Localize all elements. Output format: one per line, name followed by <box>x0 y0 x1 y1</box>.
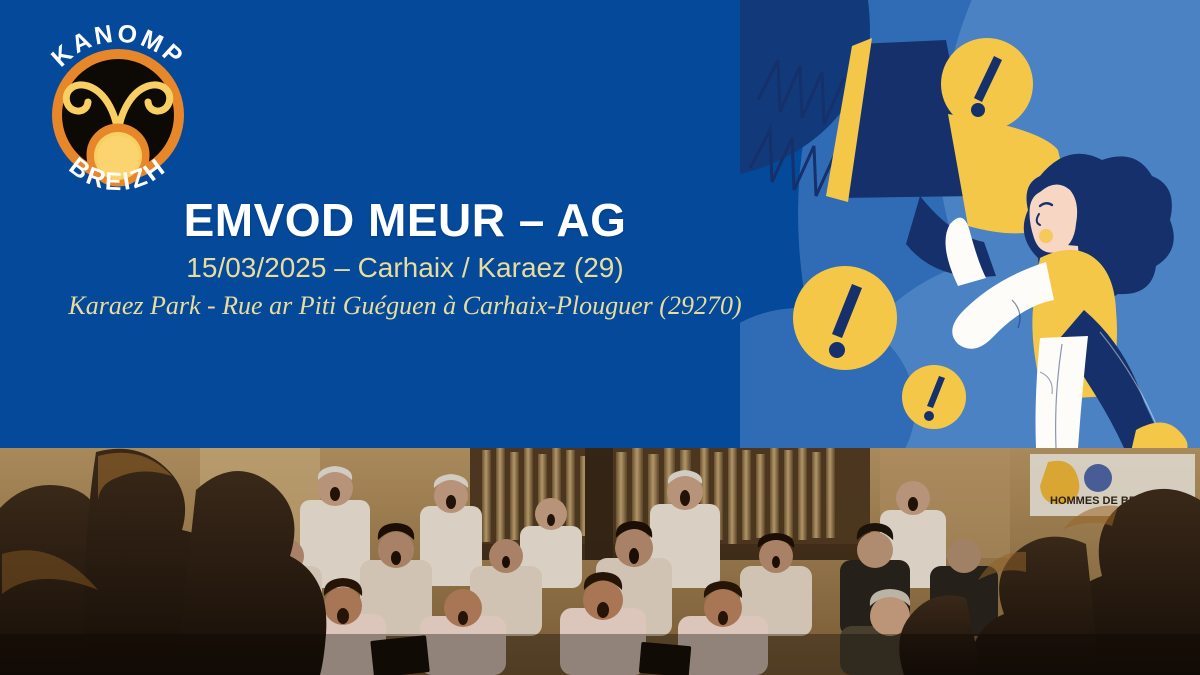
alert-badge-top <box>941 38 1033 130</box>
front-leg <box>1036 336 1089 448</box>
cheek-blush <box>1039 229 1053 243</box>
header-text-block: EMVOD MEUR – AG 15/03/2025 – Carhaix / K… <box>0 196 810 321</box>
event-date-location: 15/03/2025 – Carhaix / Karaez (29) <box>0 252 810 284</box>
header-banner: KANOMP BREIZH EMVOD MEUR – AG 15/03/2025… <box>0 0 1200 448</box>
venue-address: Karaez Park - Rue ar Piti Guéguen à Carh… <box>0 290 810 321</box>
page-title: EMVOD MEUR – AG <box>0 196 810 246</box>
kanomp-breizh-logo[interactable]: KANOMP BREIZH <box>22 12 214 208</box>
alert-badge-small <box>902 365 966 429</box>
poster-root: KANOMP BREIZH EMVOD MEUR – AG 15/03/2025… <box>0 0 1200 675</box>
choir-photograph: HOMMES DE BRETAGNE <box>0 448 1200 675</box>
